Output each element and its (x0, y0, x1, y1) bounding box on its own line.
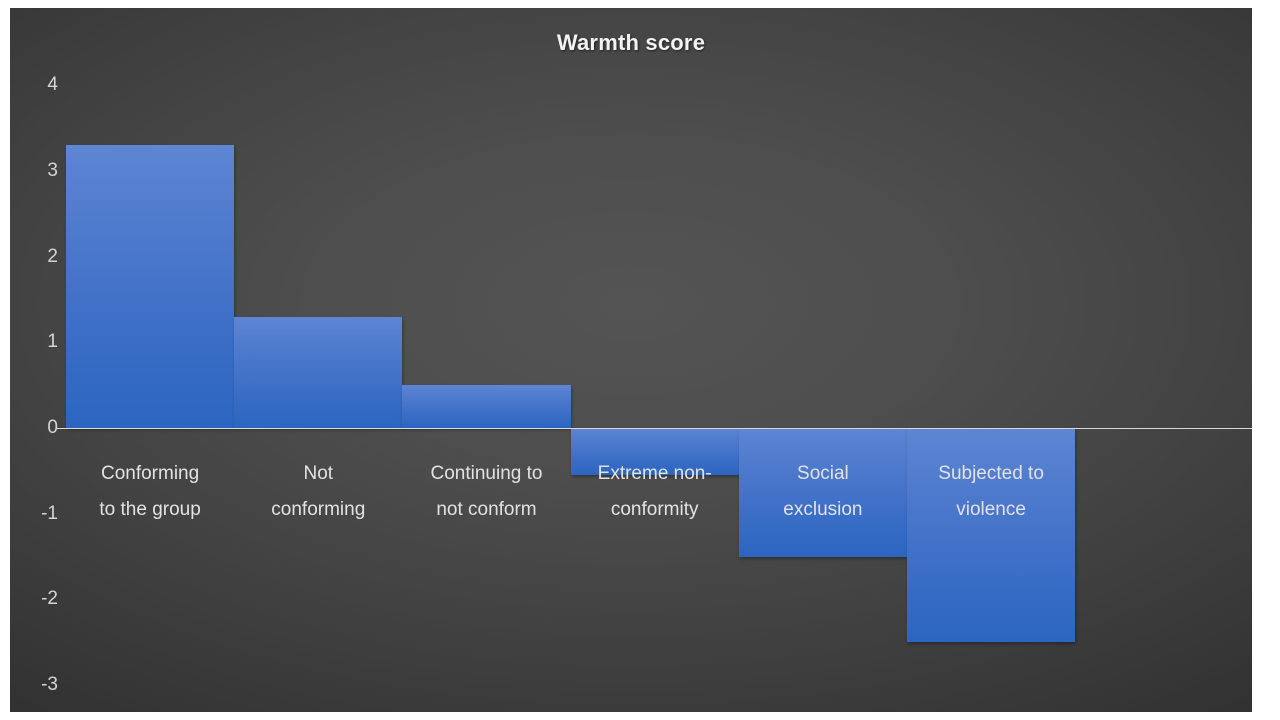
y-axis-tick-label: 2 (10, 246, 58, 268)
bar (66, 145, 234, 428)
x-axis-category-label: Extreme non- conformity (571, 456, 739, 528)
x-axis-category-label: Subjected to violence (907, 456, 1075, 528)
x-axis-category-label: Social exclusion (739, 456, 907, 528)
bar (402, 385, 570, 428)
y-axis-tick-label: -1 (10, 503, 58, 525)
y-axis-tick-label: -2 (10, 588, 58, 610)
chart-container: Warmth score 43210-1-2-3 Conforming to t… (0, 0, 1280, 720)
y-axis-tick-label: 4 (10, 74, 58, 96)
x-axis-category-label: Continuing to not conform (402, 456, 570, 528)
zero-axis-line (56, 428, 1252, 429)
y-axis-tick-label: 1 (10, 331, 58, 353)
plot-area: Warmth score 43210-1-2-3 Conforming to t… (10, 8, 1252, 712)
y-axis-tick-label: 0 (10, 417, 58, 439)
x-axis-category-label: Not conforming (234, 456, 402, 528)
x-axis-category-label: Conforming to the group (66, 456, 234, 528)
y-axis-tick-label: 3 (10, 160, 58, 182)
y-axis-tick-label: -3 (10, 674, 58, 696)
bar (234, 317, 402, 428)
chart-title: Warmth score (10, 30, 1252, 56)
